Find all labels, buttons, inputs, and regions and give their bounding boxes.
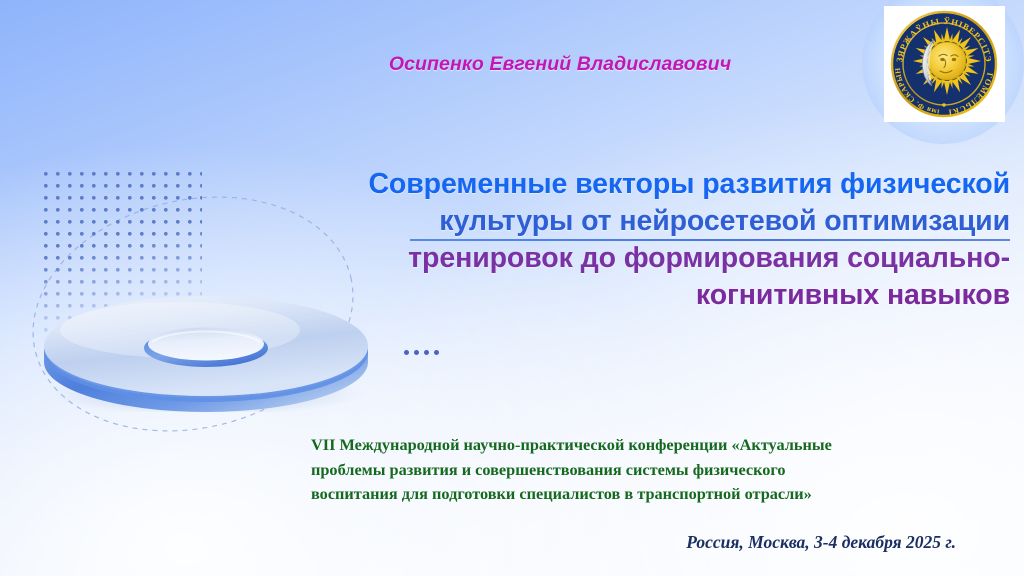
title-line-3: тренировок до формирования социально-: [294, 240, 1010, 277]
title-line-2: культуры от нейросетевой оптимизации: [294, 203, 1010, 240]
title-underline-rule: [410, 239, 1010, 241]
title-line-1: Современные векторы развития физической: [294, 166, 1010, 203]
university-logo-emblem-icon: ДЗЯРЖАЎНЫ ЎНІВЕРСІТЭТ ГОМЕЛЬСКІ імя Ф. С…: [884, 6, 1005, 122]
dot-grid-decoration: [44, 172, 202, 340]
title-line-4: когнитивных навыков: [294, 277, 1010, 314]
place-and-date: Россия, Москва, 3-4 декабря 2025 г.: [311, 532, 956, 553]
four-dot-accent-decoration: [404, 348, 444, 356]
conference-description: VII Международной научно-практической ко…: [311, 433, 956, 507]
university-logo: ДЗЯРЖАЎНЫ ЎНІВЕРСІТЭТ ГОМЕЛЬСКІ імя Ф. С…: [862, 0, 1024, 146]
author-name: Осипенко Евгений Владиславович: [300, 53, 820, 76]
presentation-slide: ДЗЯРЖАЎНЫ ЎНІВЕРСІТЭТ ГОМЕЛЬСКІ імя Ф. С…: [0, 0, 1024, 576]
conference-line-3: воспитания для подготовки специалистов в…: [311, 482, 956, 507]
conference-line-1: VII Международной научно-практической ко…: [311, 433, 956, 458]
conference-line-2: проблемы развития и совершенствования си…: [311, 458, 956, 483]
